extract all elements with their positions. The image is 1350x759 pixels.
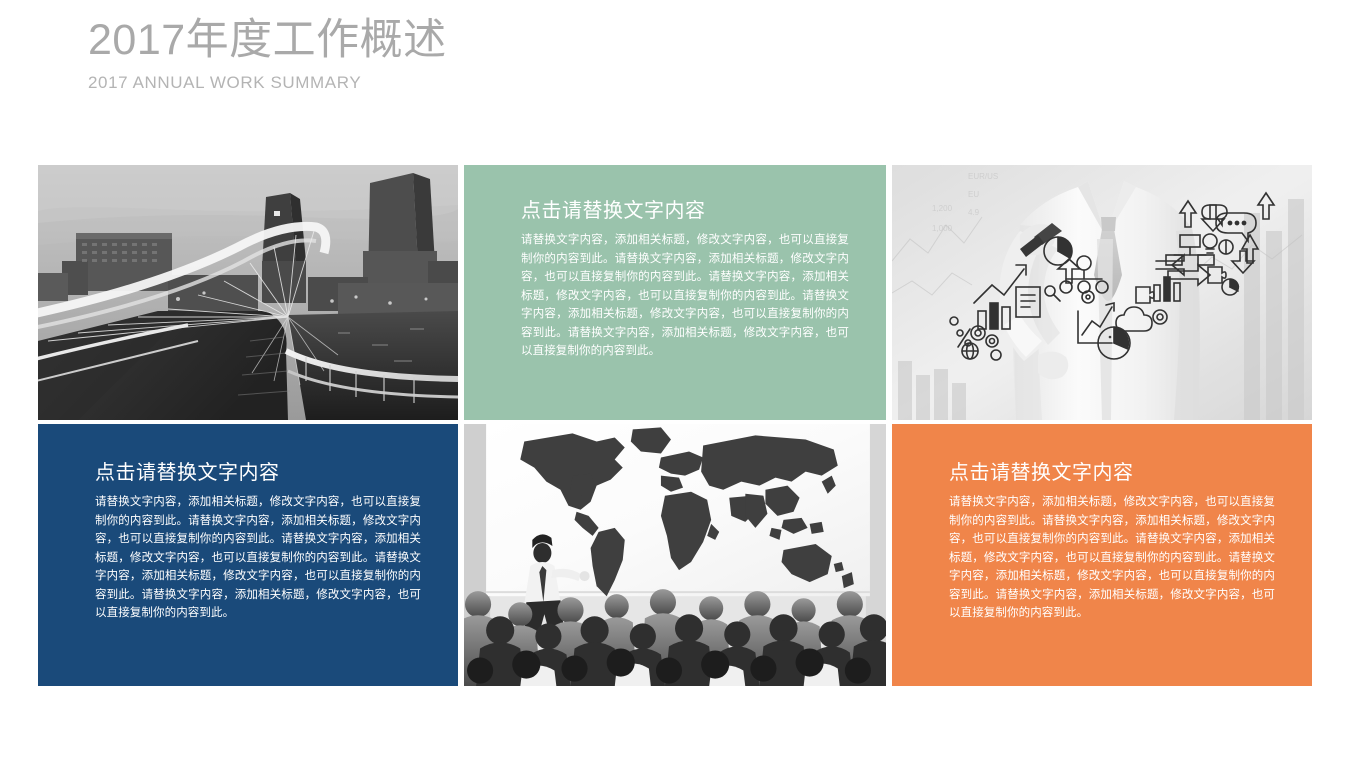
orange-panel-body: 请替换文字内容，添加相关标题，修改文字内容，也可以直接复制你的内容到此。请替换文… — [949, 493, 1275, 623]
orange-panel-heading: 点击请替换文字内容 — [949, 460, 1275, 486]
page-subtitle: 2017 ANNUAL WORK SUMMARY — [88, 72, 788, 94]
slide-header: 2017年度工作概述 2017 ANNUAL WORK SUMMARY — [88, 14, 788, 94]
businessman-infographic-photo: EUR/US EU 4.9 1,200 1,000 — [892, 165, 1312, 420]
slide-root: 2017年度工作概述 2017 ANNUAL WORK SUMMARY — [0, 0, 1350, 759]
conference-worldmap-photo — [464, 424, 886, 686]
blue-text-panel[interactable]: 点击请替换文字内容 请替换文字内容，添加相关标题，修改文字内容，也可以直接复制你… — [38, 424, 458, 686]
blue-panel-heading: 点击请替换文字内容 — [95, 460, 421, 486]
city-bridge-image — [38, 165, 458, 420]
green-text-panel[interactable]: 点击请替换文字内容 请替换文字内容，添加相关标题，修改文字内容，也可以直接复制你… — [464, 165, 886, 420]
city-bridge-photo — [38, 165, 458, 420]
blue-panel-body: 请替换文字内容，添加相关标题，修改文字内容，也可以直接复制你的内容到此。请替换文… — [95, 493, 421, 623]
conference-image — [464, 424, 886, 686]
orange-text-panel[interactable]: 点击请替换文字内容 请替换文字内容，添加相关标题，修改文字内容，也可以直接复制你… — [892, 424, 1312, 686]
content-grid: 点击请替换文字内容 请替换文字内容，添加相关标题，修改文字内容，也可以直接复制你… — [38, 165, 1312, 686]
businessman-image: EUR/US EU 4.9 1,200 1,000 — [892, 165, 1312, 420]
green-panel-heading: 点击请替换文字内容 — [521, 198, 849, 224]
page-title: 2017年度工作概述 — [88, 14, 788, 66]
green-panel-body: 请替换文字内容，添加相关标题，修改文字内容，也可以直接复制你的内容到此。请替换文… — [521, 231, 849, 361]
